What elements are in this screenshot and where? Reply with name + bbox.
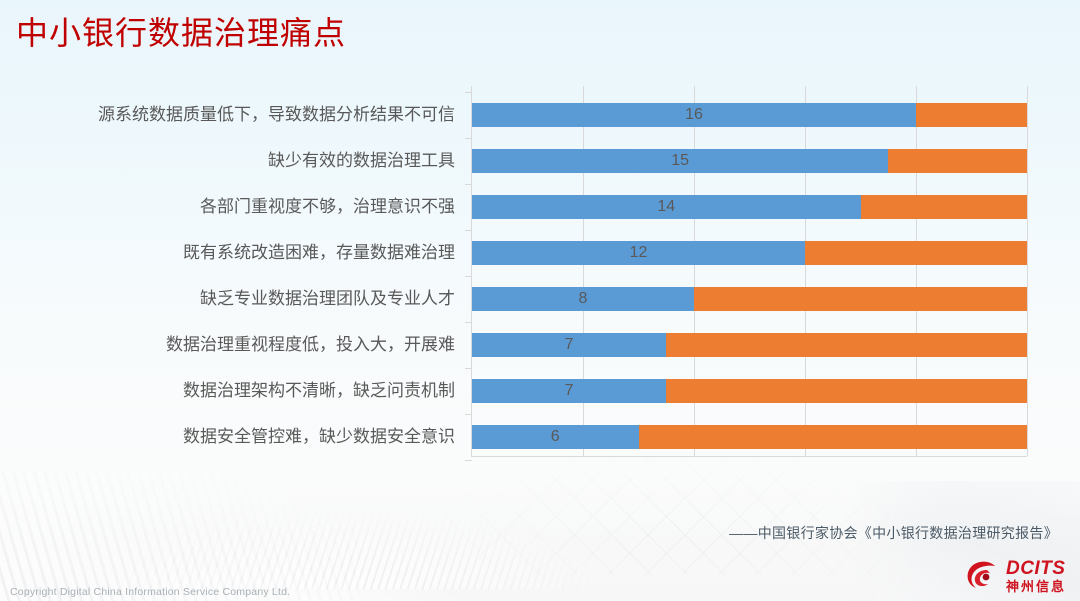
copyright-text: Copyright Digital China Information Serv…: [10, 586, 290, 598]
bar-segment-primary[interactable]: 8: [472, 287, 694, 311]
bar-chart: 源系统数据质量低下，导致数据分析结果不可信缺少有效的数据治理工具各部门重视度不够…: [0, 86, 1080, 466]
bar-row[interactable]: 7: [472, 379, 1027, 403]
y-axis-tick: [465, 368, 472, 369]
bar-segment-secondary[interactable]: [805, 241, 1027, 265]
bar-row[interactable]: 12: [472, 241, 1027, 265]
bar-segment-primary[interactable]: 7: [472, 379, 666, 403]
bar-segment-secondary[interactable]: [888, 149, 1027, 173]
bar-value-label: 6: [472, 427, 639, 447]
y-axis-tick: [465, 184, 472, 185]
bar-value-label: 7: [472, 381, 666, 401]
bar-value-label: 7: [472, 335, 666, 355]
bar-segment-secondary[interactable]: [916, 103, 1027, 127]
bar-row[interactable]: 6: [472, 425, 1027, 449]
bar-value-label: 15: [472, 151, 888, 171]
bar-segment-primary[interactable]: 14: [472, 195, 861, 219]
bar-row[interactable]: 16: [472, 103, 1027, 127]
category-label: 既有系统改造困难，存量数据难治理: [183, 242, 455, 263]
bar-segment-secondary[interactable]: [861, 195, 1028, 219]
y-axis-tick: [465, 92, 472, 93]
bar-segment-primary[interactable]: 15: [472, 149, 888, 173]
category-label: 缺少有效的数据治理工具: [268, 150, 455, 171]
page-title: 中小银行数据治理痛点: [16, 10, 346, 56]
category-label: 源系统数据质量低下，导致数据分析结果不可信: [98, 104, 455, 125]
y-axis-tick: [465, 230, 472, 231]
logo-name: DCITS: [1006, 559, 1066, 578]
y-axis-tick: [465, 322, 472, 323]
bar-row[interactable]: 15: [472, 149, 1027, 173]
y-axis-tick: [465, 276, 472, 277]
logo-wordmark: DCITS 神州信息: [1006, 559, 1066, 593]
source-citation: ——中国银行家协会《中小银行数据治理研究报告》: [729, 523, 1058, 543]
background-ridge-secondary: [0, 471, 360, 601]
logo-name-cn: 神州信息: [1006, 580, 1066, 593]
bar-segment-secondary[interactable]: [666, 333, 1027, 357]
plot-area: 161514128776: [471, 86, 1026, 456]
bar-segment-primary[interactable]: 16: [472, 103, 916, 127]
bar-value-label: 16: [472, 105, 916, 125]
bar-segment-primary[interactable]: 12: [472, 241, 805, 265]
y-axis-tick: [465, 138, 472, 139]
category-label: 数据治理重视程度低，投入大，开展难: [166, 334, 455, 355]
category-label: 缺乏专业数据治理团队及专业人才: [200, 288, 455, 309]
dcits-logo: DCITS 神州信息: [965, 558, 1066, 594]
bar-row[interactable]: 7: [472, 333, 1027, 357]
x-axis-line: [471, 456, 1027, 457]
category-axis-labels: 源系统数据质量低下，导致数据分析结果不可信缺少有效的数据治理工具各部门重视度不够…: [0, 86, 463, 466]
category-label: 数据治理架构不清晰，缺乏问责机制: [183, 380, 455, 401]
bar-segment-primary[interactable]: 7: [472, 333, 666, 357]
bar-value-label: 8: [472, 289, 694, 309]
bar-value-label: 12: [472, 243, 805, 263]
bar-segment-secondary[interactable]: [666, 379, 1027, 403]
bar-segment-primary[interactable]: 6: [472, 425, 639, 449]
y-axis-tick: [465, 460, 472, 461]
bar-value-label: 14: [472, 197, 861, 217]
category-label: 数据安全管控难，缺少数据安全意识: [183, 426, 455, 447]
category-label: 各部门重视度不够，治理意识不强: [200, 196, 455, 217]
bar-row[interactable]: 8: [472, 287, 1027, 311]
y-axis-tick: [465, 414, 472, 415]
gridline: [1027, 86, 1028, 456]
bar-segment-secondary[interactable]: [694, 287, 1027, 311]
bar-row[interactable]: 14: [472, 195, 1027, 219]
bar-segment-secondary[interactable]: [639, 425, 1028, 449]
dcits-swirl-icon: [965, 561, 999, 591]
